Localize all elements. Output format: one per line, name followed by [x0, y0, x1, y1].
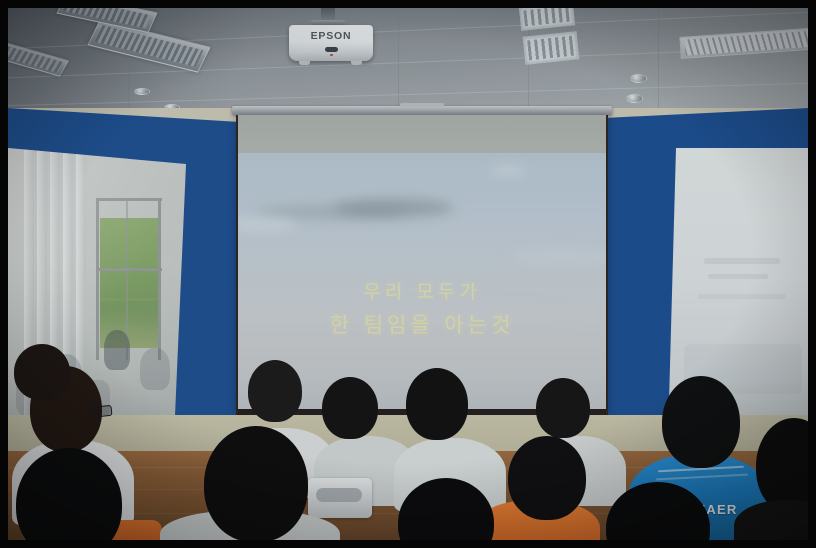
- projector-lens: [325, 47, 338, 52]
- photo-frame: EPSON: [0, 0, 816, 548]
- head: [662, 376, 740, 468]
- cloud-shape: [334, 199, 454, 217]
- smoke-detector-icon: [134, 88, 150, 95]
- cloud-shape: [508, 249, 606, 265]
- cloud-shape: [488, 167, 528, 174]
- equipment-box: [308, 478, 372, 518]
- projector-foot: [351, 61, 362, 65]
- head: [14, 344, 70, 400]
- head: [248, 360, 302, 422]
- smoke-detector-icon: [626, 94, 643, 103]
- head: [508, 436, 586, 520]
- slide-text-line2: 한 팀임을 아는것: [238, 309, 606, 339]
- ceiling: EPSON: [8, 8, 808, 116]
- equipment-handle: [316, 488, 362, 502]
- cloud-shape: [238, 219, 298, 230]
- projector-power-led: [330, 54, 333, 56]
- head: [406, 368, 468, 440]
- smoke-detector-icon: [630, 74, 647, 83]
- head: [536, 378, 590, 438]
- whiteboard-smudge: [708, 274, 768, 279]
- photograph: EPSON: [8, 8, 808, 540]
- projector-ceiling-mount: [321, 8, 335, 25]
- vent-slats: [523, 8, 570, 26]
- screen-letterbox-band: [238, 115, 606, 153]
- projector-brand-label: EPSON: [289, 30, 373, 42]
- slide-text-line1: 우리 모두가: [238, 277, 606, 304]
- projector-foot: [299, 61, 310, 65]
- head: [204, 426, 308, 540]
- projection-screen-housing: [232, 106, 612, 115]
- vent-slats: [527, 36, 575, 61]
- whiteboard-smudge: [704, 258, 780, 264]
- ceiling-tile-seam: [658, 8, 659, 116]
- air-vent-grille: [523, 31, 580, 64]
- ceiling-tile-seam: [398, 8, 399, 116]
- projector[interactable]: EPSON: [289, 25, 373, 61]
- head: [322, 377, 378, 439]
- whiteboard-smudge: [698, 294, 786, 299]
